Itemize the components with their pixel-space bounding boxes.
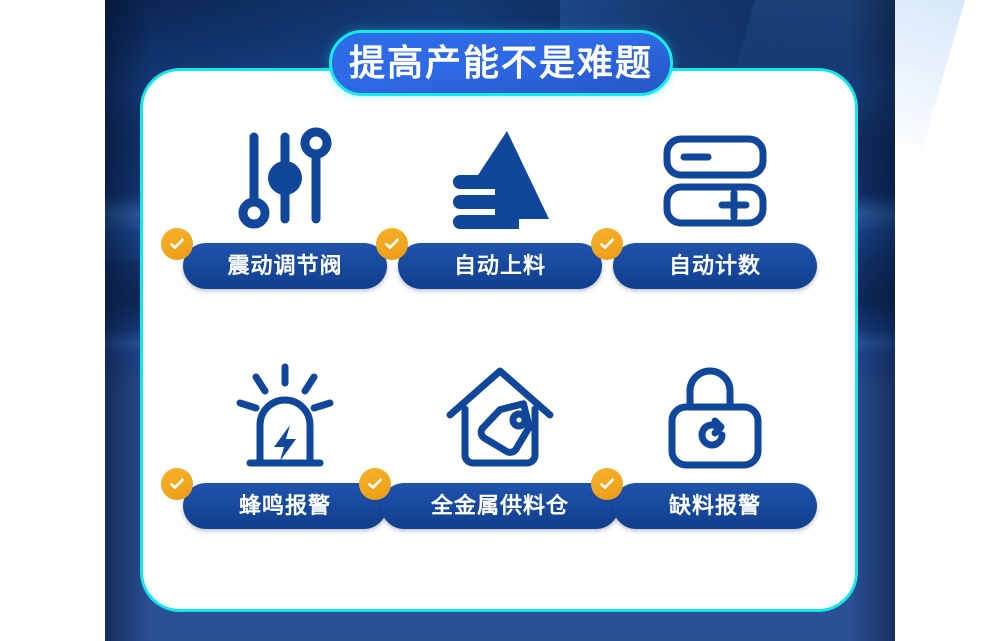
feature-label: 全金属供料仓: [431, 495, 569, 517]
feature-grid: 震动调节阀: [140, 68, 858, 612]
feature-label-pill[interactable]: 自动上料: [398, 243, 602, 289]
check-badge-icon: [161, 228, 193, 260]
stack-arrow-icon: [380, 118, 620, 238]
feature-item-metal-hopper[interactable]: 全金属供料仓: [380, 358, 620, 608]
sliders-icon: [165, 118, 405, 238]
feature-item-vibration-valve[interactable]: 震动调节阀: [165, 118, 405, 368]
feature-label-wrap: 全金属供料仓: [380, 483, 620, 553]
check-badge-icon: [376, 228, 408, 260]
feature-item-auto-feeding[interactable]: 自动上料: [380, 118, 620, 368]
promo-banner: 提高产能不是难题: [0, 0, 1000, 641]
feature-label: 自动上料: [454, 255, 546, 277]
check-badge-icon: [591, 228, 623, 260]
feature-label: 震动调节阀: [227, 255, 342, 277]
feature-label-wrap: 震动调节阀: [165, 243, 405, 313]
feature-label-pill[interactable]: 震动调节阀: [183, 243, 387, 289]
unlock-refresh-icon: [595, 358, 835, 478]
feature-label-wrap: 自动上料: [380, 243, 620, 313]
check-badge-icon: [591, 468, 623, 500]
feature-label-wrap: 缺料报警: [595, 483, 835, 553]
check-badge-icon: [161, 468, 193, 500]
feature-label: 蜂鸣报警: [239, 495, 331, 517]
plus-minus-icon: [595, 118, 835, 238]
feature-label-pill[interactable]: 蜂鸣报警: [183, 483, 387, 529]
feature-item-shortage-alarm[interactable]: 缺料报警: [595, 358, 835, 608]
house-tag-icon: [380, 358, 620, 478]
feature-label-wrap: 自动计数: [595, 243, 835, 313]
feature-label: 缺料报警: [669, 495, 761, 517]
feature-label-pill[interactable]: 全金属供料仓: [381, 483, 619, 529]
feature-label: 自动计数: [669, 255, 761, 277]
feature-label-pill[interactable]: 缺料报警: [613, 483, 817, 529]
check-badge-icon: [359, 468, 391, 500]
feature-item-auto-counting[interactable]: 自动计数: [595, 118, 835, 368]
siren-icon: [165, 358, 405, 478]
feature-label-pill[interactable]: 自动计数: [613, 243, 817, 289]
